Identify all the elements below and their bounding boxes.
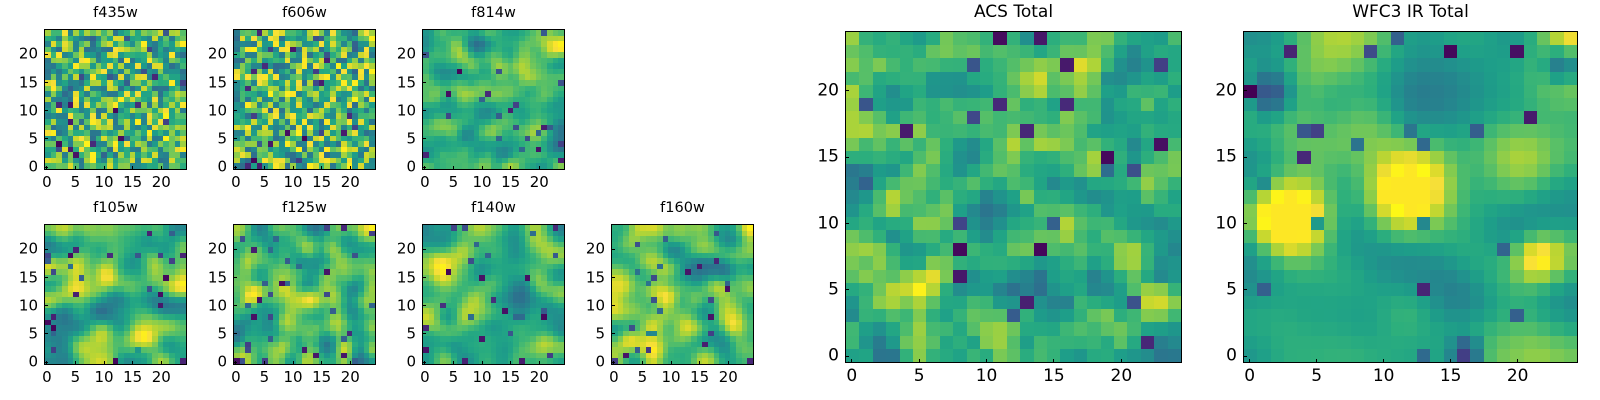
y-tick-label: 20 [0,47,38,62]
y-tick-label: 5 [376,131,416,146]
y-tick-label: 15 [0,270,38,285]
y-tick-label: 20 [1197,82,1237,99]
y-tick-label: 20 [799,82,839,99]
x-tick-mark [1053,359,1054,363]
x-tick-label: 20 [1111,368,1133,385]
heatmap-axes-wfc3-ir-total [1243,31,1578,363]
x-tick-mark [453,166,454,170]
y-tick-mark [422,362,426,363]
y-tick-label: 15 [1197,149,1237,166]
y-tick-label: 5 [187,131,227,146]
x-tick-mark [453,361,454,365]
x-tick-mark [1121,359,1122,363]
x-tick-mark [1450,359,1451,363]
y-tick-mark [422,54,426,55]
x-tick-mark [293,361,294,365]
x-tick-mark [728,361,729,365]
y-tick-label: 0 [565,355,605,370]
y-tick-mark [422,167,426,168]
heatmap-axes-f814w [422,29,565,170]
x-tick-label: 20 [530,175,549,190]
x-tick-mark [161,361,162,365]
y-tick-label: 15 [376,75,416,90]
y-tick-label: 20 [376,242,416,257]
panel-title-f435w: f435w [44,6,187,21]
y-tick-mark [611,305,615,306]
panel-title-f140w: f140w [422,201,565,216]
y-tick-label: 15 [0,75,38,90]
x-tick-mark [75,361,76,365]
x-tick-label: 15 [690,370,709,385]
y-tick-mark [611,277,615,278]
panel-title-f814w: f814w [422,6,565,21]
x-tick-mark [321,166,322,170]
panel-title-f105w: f105w [44,201,187,216]
x-tick-label: 0 [42,370,52,385]
y-tick-mark [233,305,237,306]
x-tick-mark [1517,359,1518,363]
heatmap-axes-f125w [233,224,376,365]
y-tick-mark [422,305,426,306]
y-tick-label: 10 [376,103,416,118]
x-tick-mark [350,166,351,170]
x-tick-mark [671,361,672,365]
y-tick-label: 15 [799,149,839,166]
y-tick-mark [233,138,237,139]
x-tick-mark [104,166,105,170]
x-tick-label: 5 [71,370,81,385]
y-tick-label: 10 [187,298,227,313]
y-tick-mark [44,82,48,83]
y-tick-mark [611,249,615,250]
figure-canvas: f435w0055101015152020f606w00551010151520… [0,0,1600,400]
x-tick-mark [264,361,265,365]
heatmap-grid-f814w [423,30,564,169]
x-tick-label: 10 [284,175,303,190]
x-tick-mark [321,361,322,365]
y-tick-mark [233,54,237,55]
x-tick-label: 15 [312,175,331,190]
heatmap-axes-acs-total [845,31,1182,363]
x-tick-label: 10 [473,370,492,385]
x-tick-label: 5 [71,175,81,190]
y-tick-label: 15 [376,270,416,285]
x-tick-label: 0 [420,175,430,190]
x-tick-label: 5 [449,370,459,385]
x-tick-label: 5 [914,368,925,385]
x-tick-label: 0 [846,368,857,385]
x-tick-label: 10 [976,368,998,385]
x-tick-mark [1316,359,1317,363]
y-tick-label: 20 [187,47,227,62]
y-tick-label: 15 [187,270,227,285]
x-tick-mark [1383,359,1384,363]
x-tick-mark [104,361,105,365]
y-tick-mark [44,54,48,55]
panel-title-f160w: f160w [611,201,754,216]
x-tick-label: 0 [231,175,241,190]
x-tick-mark [132,361,133,365]
x-tick-mark [350,361,351,365]
y-tick-label: 5 [1197,281,1237,298]
y-tick-label: 5 [376,326,416,341]
y-tick-mark [845,223,849,224]
y-tick-label: 5 [565,326,605,341]
heatmap-axes-f435w [44,29,187,170]
y-tick-mark [422,110,426,111]
heatmap-axes-f606w [233,29,376,170]
heatmap-grid-f435w [45,30,186,169]
y-tick-mark [233,362,237,363]
x-tick-label: 15 [123,175,142,190]
x-tick-label: 10 [662,370,681,385]
x-tick-label: 15 [501,175,520,190]
x-tick-label: 0 [609,370,619,385]
y-tick-mark [1243,157,1247,158]
y-tick-mark [233,277,237,278]
y-tick-mark [611,333,615,334]
panel-title-f125w: f125w [233,201,376,216]
x-tick-label: 5 [1311,368,1322,385]
x-tick-label: 20 [152,370,171,385]
x-tick-mark [986,359,987,363]
x-tick-label: 0 [42,175,52,190]
x-tick-mark [539,166,540,170]
y-tick-mark [44,249,48,250]
y-tick-mark [233,82,237,83]
y-tick-mark [1243,223,1247,224]
y-tick-label: 0 [799,348,839,365]
x-tick-label: 10 [95,175,114,190]
x-tick-mark [539,361,540,365]
y-tick-mark [233,249,237,250]
y-tick-mark [233,110,237,111]
y-tick-label: 15 [187,75,227,90]
y-tick-mark [1243,90,1247,91]
y-tick-label: 20 [376,47,416,62]
heatmap-grid-wfc3-ir-total [1244,32,1577,362]
y-tick-label: 15 [565,270,605,285]
x-tick-label: 20 [152,175,171,190]
y-tick-mark [44,138,48,139]
heatmap-grid-acs-total [846,32,1181,362]
x-tick-mark [851,359,852,363]
x-tick-label: 20 [530,370,549,385]
x-tick-label: 20 [341,370,360,385]
y-tick-mark [845,289,849,290]
y-tick-mark [233,167,237,168]
y-tick-label: 10 [0,298,38,313]
y-tick-mark [422,249,426,250]
y-tick-mark [44,277,48,278]
y-tick-mark [233,333,237,334]
y-tick-mark [44,167,48,168]
heatmap-grid-f606w [234,30,375,169]
y-tick-mark [422,333,426,334]
x-tick-mark [264,166,265,170]
heatmap-grid-f140w [423,225,564,364]
heatmap-axes-f140w [422,224,565,365]
x-tick-label: 10 [1373,368,1395,385]
y-tick-label: 10 [1197,215,1237,232]
y-tick-mark [44,110,48,111]
x-tick-label: 5 [260,370,270,385]
x-tick-mark [161,166,162,170]
y-tick-mark [1243,289,1247,290]
y-tick-mark [611,362,615,363]
y-tick-label: 5 [0,326,38,341]
x-tick-label: 5 [449,175,459,190]
y-tick-mark [422,138,426,139]
y-tick-mark [422,277,426,278]
y-tick-label: 5 [0,131,38,146]
y-tick-label: 0 [376,160,416,175]
y-tick-mark [1243,356,1247,357]
y-tick-label: 20 [565,242,605,257]
y-tick-label: 0 [1197,348,1237,365]
x-tick-label: 0 [420,370,430,385]
y-tick-label: 20 [187,242,227,257]
y-tick-mark [845,157,849,158]
y-tick-label: 0 [376,355,416,370]
x-tick-label: 15 [312,370,331,385]
y-tick-mark [845,356,849,357]
x-tick-label: 15 [1440,368,1462,385]
x-tick-label: 5 [638,370,648,385]
x-tick-label: 15 [123,370,142,385]
y-tick-label: 10 [376,298,416,313]
x-tick-label: 20 [1507,368,1529,385]
x-tick-mark [293,166,294,170]
y-tick-label: 10 [0,103,38,118]
y-tick-label: 20 [0,242,38,257]
y-tick-label: 0 [0,160,38,175]
x-tick-label: 10 [473,175,492,190]
y-tick-label: 0 [187,355,227,370]
x-tick-label: 15 [501,370,520,385]
x-tick-mark [75,166,76,170]
y-tick-label: 0 [0,355,38,370]
x-tick-label: 15 [1043,368,1065,385]
y-tick-mark [44,305,48,306]
x-tick-label: 0 [1244,368,1255,385]
y-tick-mark [845,90,849,91]
y-tick-label: 10 [187,103,227,118]
x-tick-mark [482,361,483,365]
heatmap-axes-f105w [44,224,187,365]
heatmap-grid-f125w [234,225,375,364]
x-tick-mark [132,166,133,170]
x-tick-mark [482,166,483,170]
x-tick-mark [510,361,511,365]
x-tick-mark [699,361,700,365]
y-tick-label: 10 [565,298,605,313]
y-tick-label: 5 [187,326,227,341]
x-tick-mark [642,361,643,365]
x-tick-label: 20 [341,175,360,190]
x-tick-label: 20 [719,370,738,385]
panel-title-f606w: f606w [233,6,376,21]
x-tick-label: 10 [95,370,114,385]
y-tick-label: 10 [799,215,839,232]
x-tick-label: 0 [231,370,241,385]
heatmap-grid-f105w [45,225,186,364]
x-tick-mark [919,359,920,363]
x-tick-mark [510,166,511,170]
y-tick-mark [44,362,48,363]
heatmap-grid-f160w [612,225,753,364]
y-tick-label: 0 [187,160,227,175]
y-tick-mark [44,333,48,334]
y-tick-label: 5 [799,281,839,298]
heatmap-axes-f160w [611,224,754,365]
y-tick-mark [422,82,426,83]
x-tick-label: 5 [260,175,270,190]
panel-title-wfc3-ir-total: WFC3 IR Total [1243,4,1578,21]
panel-title-acs-total: ACS Total [845,4,1182,21]
x-tick-mark [1249,359,1250,363]
x-tick-label: 10 [284,370,303,385]
